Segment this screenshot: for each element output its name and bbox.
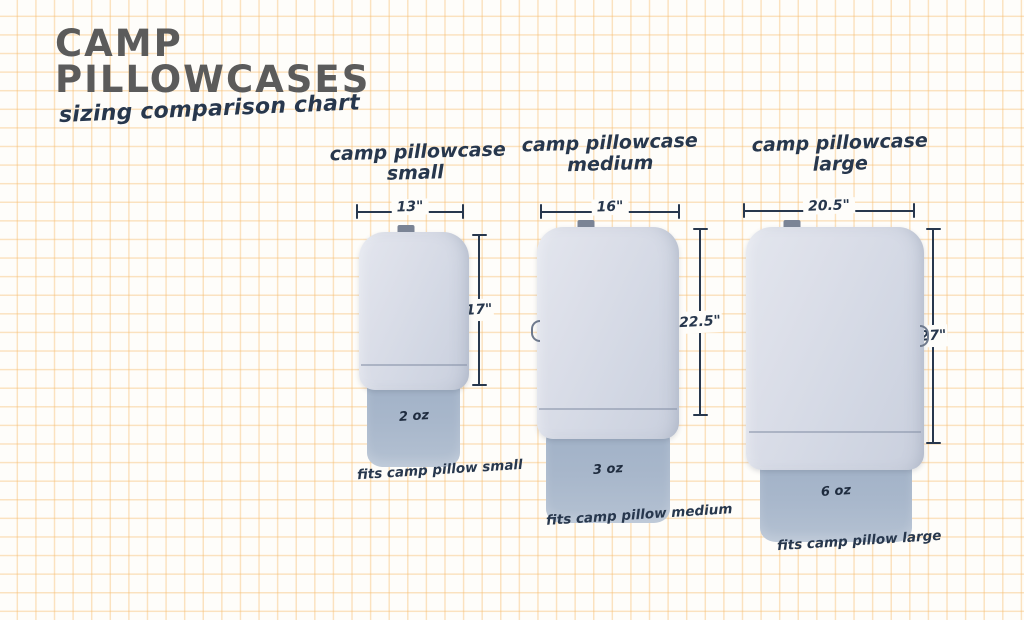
pillowcase-illustration-small: 2 oz bbox=[350, 225, 480, 470]
product-title-medium: camp pillowcase medium bbox=[514, 130, 705, 178]
pillowcase-illustration-medium: 3 oz bbox=[528, 220, 693, 515]
pillowcase-hem bbox=[361, 364, 468, 366]
dimension-cap-bottom bbox=[693, 414, 708, 416]
dimension-cap-right bbox=[462, 204, 464, 219]
pillowcase-illustration-large: 6 oz bbox=[738, 220, 930, 520]
product-name-line2-small: small bbox=[330, 161, 501, 187]
height-dimension-medium: 22.5" bbox=[692, 228, 708, 416]
weight-label-medium: 3 oz bbox=[592, 461, 623, 478]
pillowcase-body-medium bbox=[537, 227, 679, 439]
pillowcase-tag-icon bbox=[398, 225, 415, 232]
width-dimension-medium: 16" bbox=[540, 203, 680, 219]
pillowcase-body-small bbox=[359, 232, 469, 390]
width-dimension-small: 13" bbox=[356, 203, 464, 219]
width-label-small: 13" bbox=[391, 198, 428, 215]
dimension-cap-right bbox=[913, 203, 915, 218]
weight-label-small: 2 oz bbox=[398, 408, 429, 425]
title-line-1: CAMP bbox=[55, 26, 370, 62]
sizing-chart-canvas: CAMP PILLOWCASES sizing comparison chart… bbox=[0, 0, 1024, 620]
product-title-large: camp pillowcase large bbox=[739, 130, 940, 178]
page-title: CAMP PILLOWCASES sizing comparison chart bbox=[55, 26, 370, 128]
pillowcase-body-large bbox=[746, 227, 924, 470]
width-label-large: 20.5" bbox=[803, 197, 855, 215]
pillowcase-loop-icon bbox=[920, 325, 929, 347]
pillowcase-loop-icon bbox=[531, 320, 540, 342]
pillowcase-hem bbox=[749, 431, 922, 433]
weight-label-large: 6 oz bbox=[820, 483, 851, 500]
pillowcase-tag-icon bbox=[784, 220, 801, 227]
pillowcase-tag-icon bbox=[577, 220, 594, 227]
width-label-medium: 16" bbox=[591, 198, 628, 215]
dimension-cap-right bbox=[678, 204, 680, 219]
pillowcase-hem bbox=[539, 408, 677, 410]
product-title-small: camp pillowcase small bbox=[329, 140, 500, 187]
width-dimension-large: 20.5" bbox=[743, 202, 915, 218]
